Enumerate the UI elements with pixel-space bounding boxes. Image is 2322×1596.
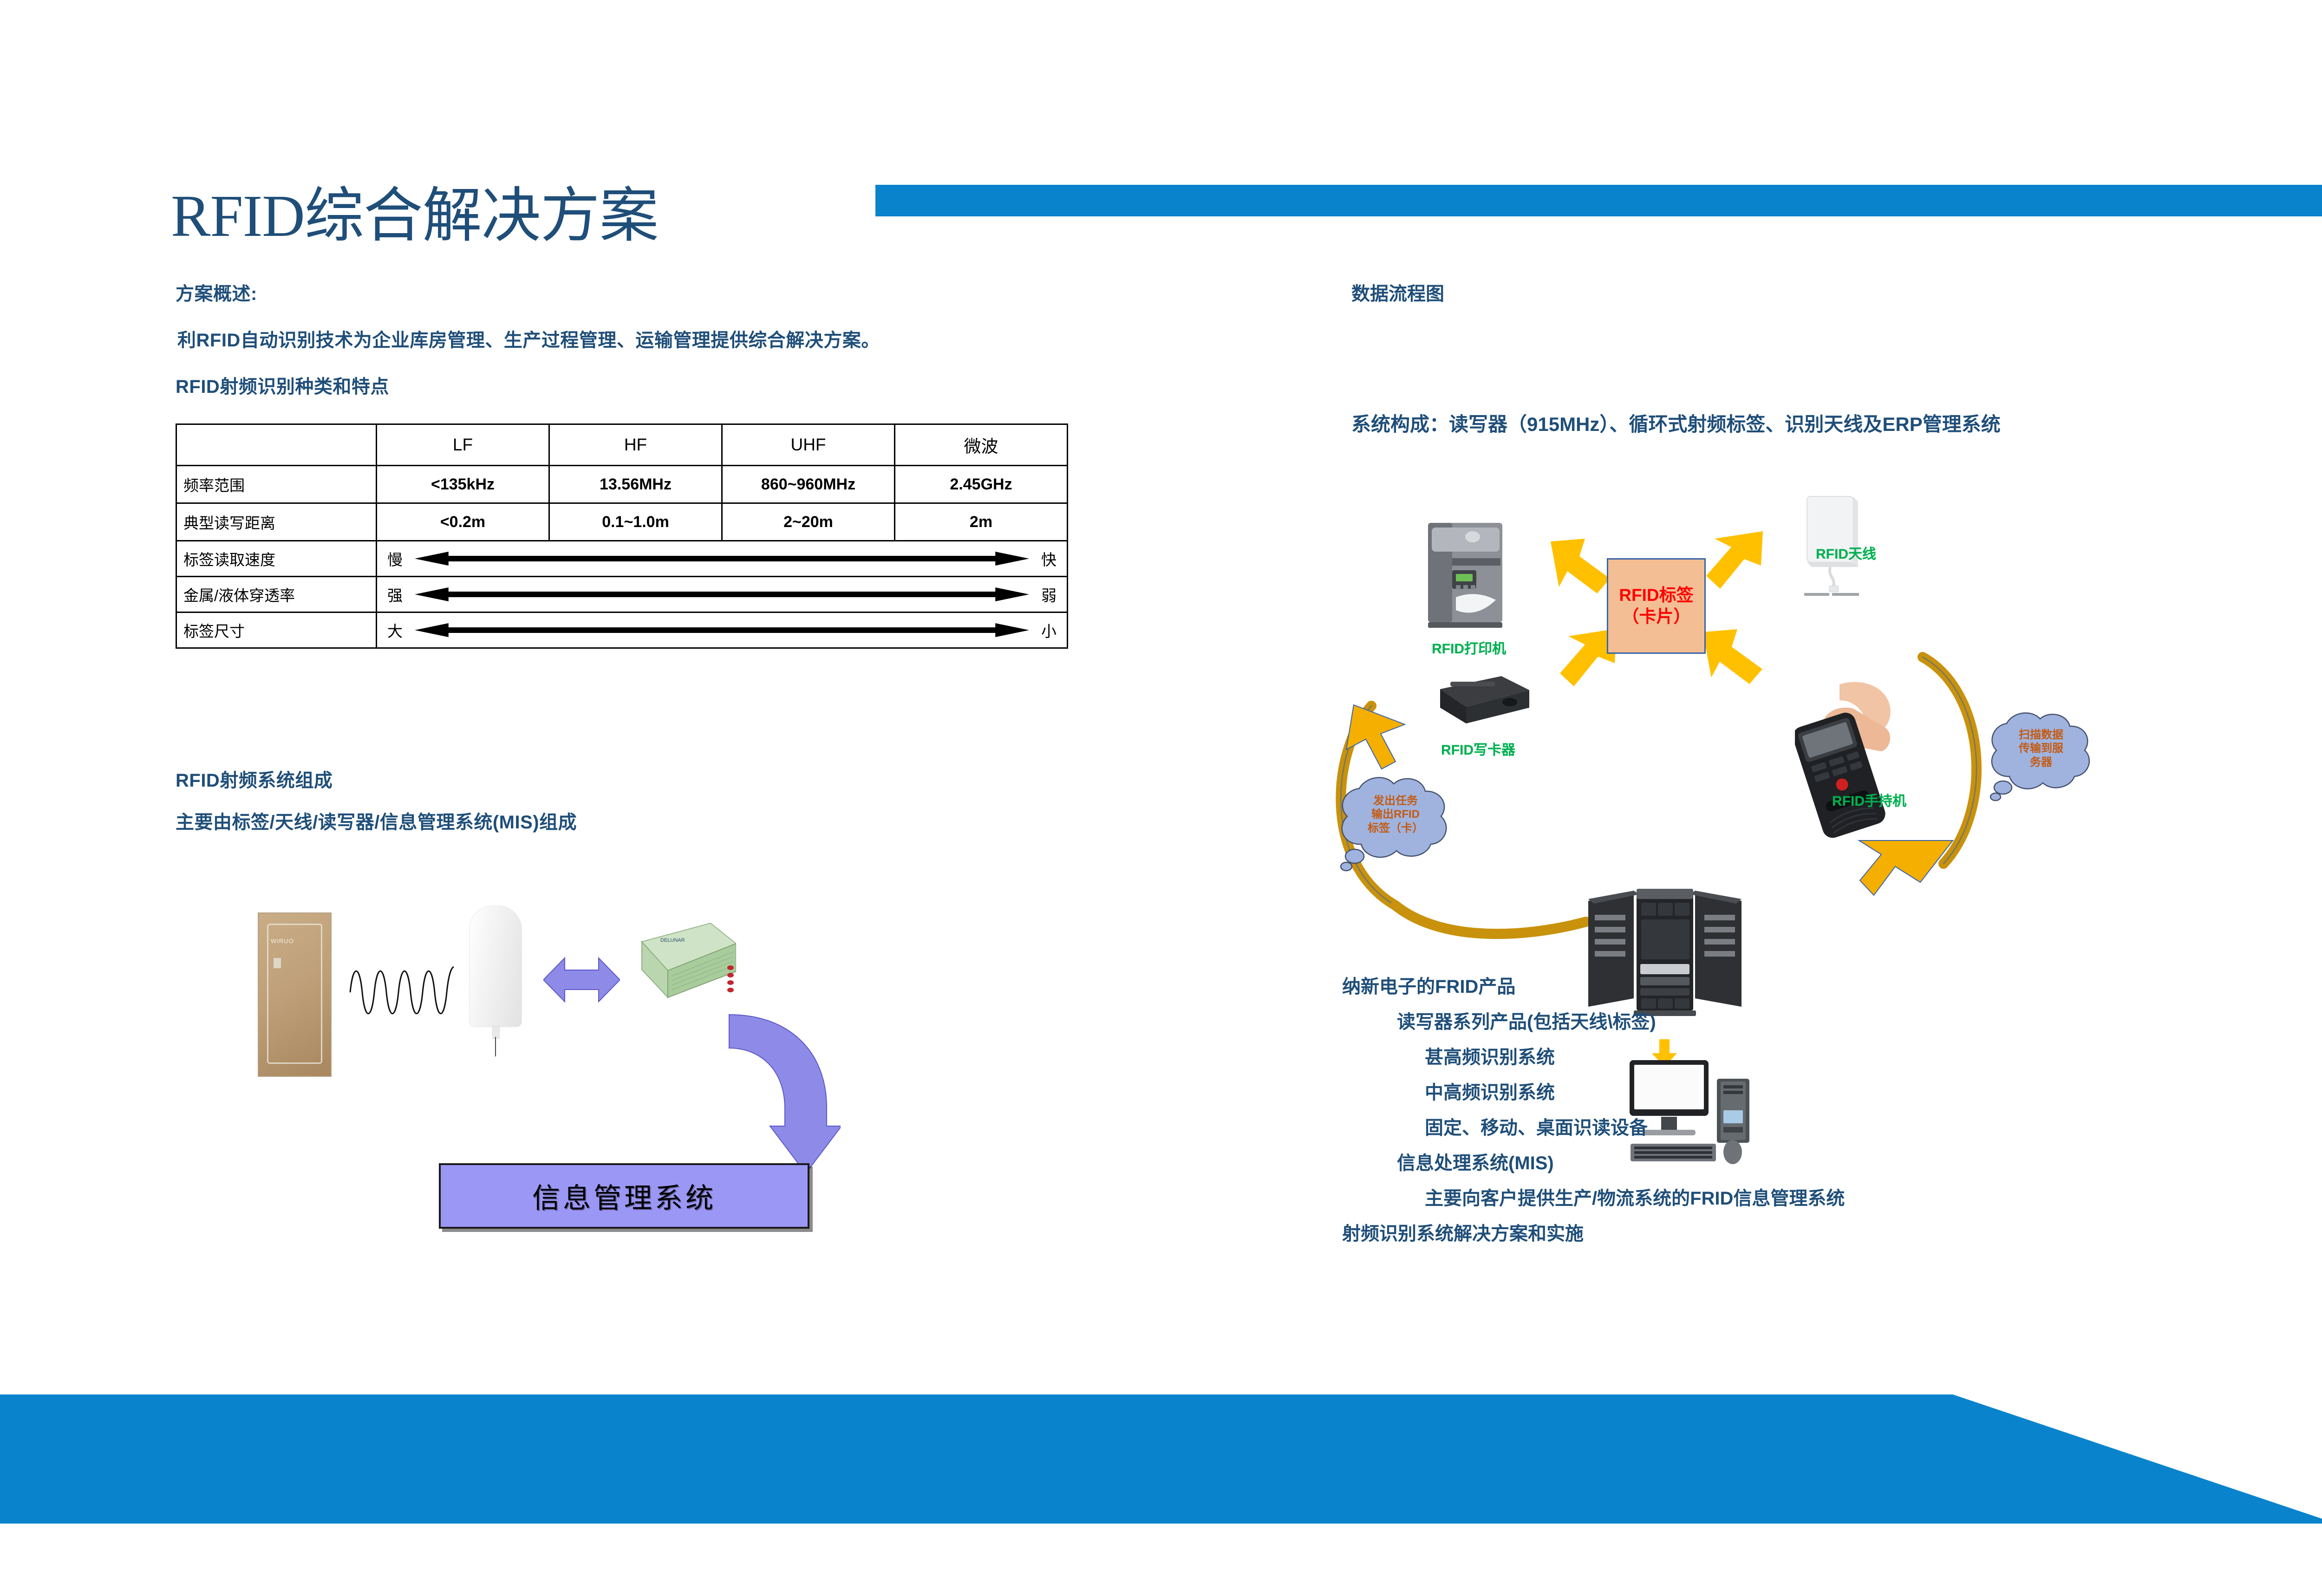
double-arrow-icon [415,552,1029,566]
rfid-reader-photo: DELUNAR [632,919,736,1008]
right-cloud-line1: 扫描数据 [1976,728,2106,742]
rfid-printer-photo [1422,515,1513,632]
double-arrow-icon [415,623,1029,637]
table-header-row: LF HF UHF 微波 [176,424,1068,466]
table-col-lf: LF [377,424,549,466]
cell-lf: <0.2m [377,503,549,541]
row-label: 典型读写距离 [176,503,377,541]
arrow-right-label: 快 [1041,547,1057,570]
arrow-right-label: 小 [1041,619,1057,641]
antenna-cable [495,1037,496,1056]
cell-micro: 2.45GHz [895,466,1068,503]
kinds-heading: RFID射频识别种类和特点 [176,371,389,398]
table-row: 标签读取速度 慢 快 [176,541,1068,577]
data-flow-diagram-label: 数据流程图 [1351,279,1444,306]
bidirectional-arrow-icon [543,954,620,1005]
rfid-handheld-photo [1795,678,1899,864]
gradient-arrow-cell: 慢 快 [377,541,1068,577]
table-row: 典型读写距离 <0.2m 0.1~1.0m 2~20m 2m [176,503,1068,541]
arrow-left-label: 慢 [387,547,403,570]
table-col-micro: 微波 [895,424,1068,466]
cell-uhf: 2~20m [722,503,895,541]
left-cloud-line1: 发出任务 [1326,794,1465,808]
rfid-tag-center-box: RFID标签 （卡片） [1607,558,1706,654]
list-item: 固定、移动、桌面识读设备 [1425,1119,2132,1137]
tag-brand-label: WIRUO [271,938,294,945]
svg-text:DELUNAR: DELUNAR [660,938,685,943]
row-label: 标签尺寸 [176,612,377,648]
arrow-left-label: 强 [387,583,403,606]
mis-box-label: 信息管理系统 [532,1176,716,1216]
antenna-connector [492,1026,500,1039]
system-composition-line: 系统构成：读写器（915MHz）、循环式射频标签、识别天线及ERP管理系统 [1351,409,2001,437]
list-item: 读写器系列产品(包括天线\标签) [1397,1013,2132,1031]
arrow-left-label: 大 [387,619,403,641]
table-row: 频率范围 <135kHz 13.56MHz 860~960MHz 2.45GHz [176,466,1068,503]
mis-box: 信息管理系统 [439,1163,809,1229]
cell-micro: 2m [895,503,1068,541]
page-title: RFID综合解决方案 [171,183,659,249]
gradient-arrow-cell: 大 小 [377,612,1068,648]
rfid-system-illustration: WIRUO DELUNAR 信息管理系统 [186,861,1022,1261]
rfid-comparison-table: LF HF UHF 微波 频率范围 <135kHz 13.56MHz 860~9… [176,423,1068,649]
tag-chip [274,958,281,968]
table-col-uhf: UHF [722,424,895,466]
product-bullet-list: 纳新电子的FRID产品 读写器系列产品(包括天线\标签) 甚高频识别系统 中高频… [1342,977,2132,1260]
handheld-label: RFID手持机 [1832,789,1906,810]
antenna-label: RFID天线 [1816,542,1876,563]
overview-label: 方案概述: [176,279,257,306]
double-arrow-icon [415,587,1029,601]
row-label: 标签读取速度 [176,541,377,577]
printer-label: RFID打印机 [1432,637,1506,658]
writer-label: RFID写卡器 [1441,738,1515,759]
radio-wave-icon [348,961,455,1024]
left-cloud-line3: 标签（卡） [1326,821,1465,835]
list-item: 甚高频识别系统 [1425,1048,2132,1067]
footer-accent-shape [0,1394,2322,1548]
rfid-antenna-photo [469,905,522,1027]
arrow-right-label: 弱 [1041,583,1057,606]
cell-uhf: 860~960MHz [722,466,895,503]
curved-flow-arrow-icon [711,1010,841,1186]
cell-hf: 0.1~1.0m [549,503,722,541]
row-label: 频率范围 [176,466,377,503]
arrow-tag-to-antenna-icon [1700,529,1765,590]
right-cloud-line3: 务器 [1976,756,2106,769]
overview-body: 利RFID自动识别技术为企业库房管理、生产过程管理、运输管理提供综合解决方案。 [177,325,880,352]
tag-box-line2: （卡片） [1622,606,1691,627]
list-item: 纳新电子的FRID产品 [1342,977,2132,996]
row-label: 金属/液体穿透率 [176,577,377,612]
rfid-card-writer-photo [1432,669,1532,729]
left-cloud-text: 发出任务 输出RFID 标签（卡） [1326,794,1465,835]
right-cloud-line2: 传输到服 [1976,742,2106,755]
system-composition-body: 主要由标签/天线/读写器/信息管理系统(MIS)组成 [176,807,577,834]
cell-lf: <135kHz [377,466,549,503]
cell-hf: 13.56MHz [549,466,722,503]
header-accent-bar [875,185,2322,216]
table-row: 金属/液体穿透率 强 弱 [176,577,1068,612]
rfid-panel-antenna-photo [1804,495,1859,634]
table-col-blank [176,424,377,466]
list-item: 信息处理系统(MIS) [1397,1154,2132,1173]
tag-inlay-outline [267,924,322,1064]
rfid-data-flow-diagram: RFID打印机 RFID写卡器 RFID标签 （卡片） RFID天线 [1326,474,2097,943]
left-cloud-line2: 输出RFID [1326,808,1465,821]
table-row: 标签尺寸 大 小 [176,612,1068,648]
arrow-printer-to-tag-icon [1549,539,1614,594]
arrow-tag-to-handheld-icon [1701,629,1766,685]
gradient-arrow-cell: 强 弱 [377,577,1068,612]
table-col-hf: HF [549,424,722,466]
rfid-tag-photo: WIRUO [258,912,332,1077]
list-item: 射频识别系统解决方案和实施 [1342,1225,2132,1243]
list-item: 主要向客户提供生产/物流系统的FRID信息管理系统 [1425,1189,2132,1208]
list-item: 中高频识别系统 [1425,1083,2132,1102]
tag-box-line1: RFID标签 [1619,585,1693,606]
system-composition-heading: RFID射频系统组成 [176,765,333,792]
right-cloud-text: 扫描数据 传输到服 务器 [1976,728,2106,769]
